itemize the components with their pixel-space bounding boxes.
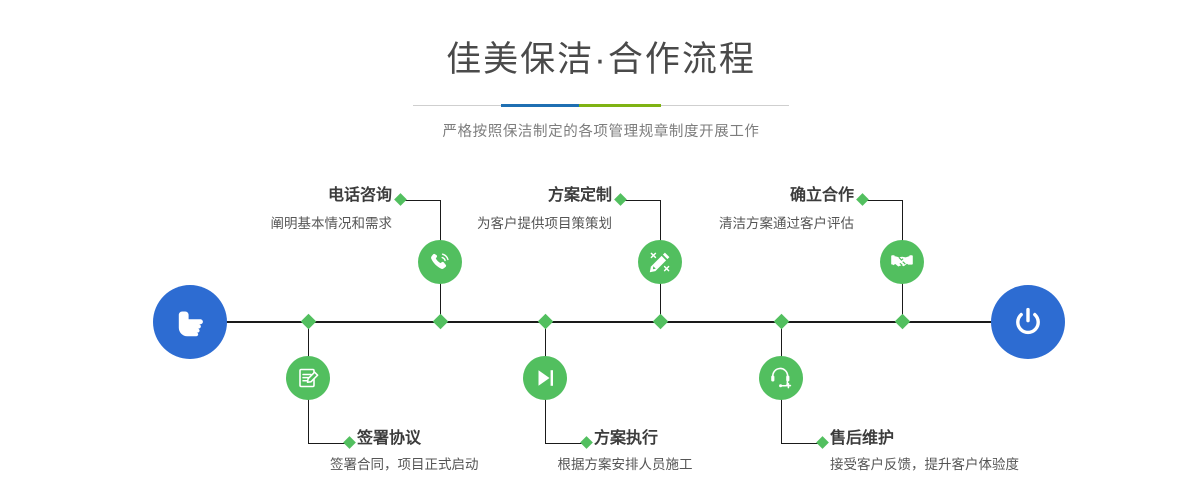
document-edit-icon [295, 365, 321, 391]
step-icon-circle-4[interactable] [523, 356, 567, 400]
step-icon-circle-6[interactable] [759, 356, 803, 400]
step-desc-1: 阐明基本情况和需求 [180, 217, 392, 231]
timeline-end-node[interactable] [991, 285, 1065, 359]
pencil-ruler-icon [647, 249, 673, 275]
flowchart-page: 佳美保洁·合作流程 严格按照保洁制定的各项管理规章制度开展工作 [0, 0, 1202, 502]
handshake-icon [889, 249, 915, 275]
play-execute-icon [532, 365, 558, 391]
step-title-5: 确立合作 [642, 188, 854, 204]
label-marker-6 [816, 436, 829, 449]
step-title-4: 方案执行 [594, 431, 658, 447]
step-desc-4: 根据方案安排人员施工 [558, 458, 693, 472]
step-icon-circle-2[interactable] [286, 356, 330, 400]
step-icon-circle-5[interactable] [880, 240, 924, 284]
step-title-6: 售后维护 [830, 431, 894, 447]
label-marker-3 [614, 193, 627, 206]
label-marker-4 [580, 436, 593, 449]
label-marker-5 [856, 193, 869, 206]
axis-marker-4 [538, 314, 554, 330]
phone-call-icon [427, 249, 453, 275]
power-icon [1008, 302, 1048, 342]
axis-marker-1 [433, 314, 449, 330]
process-timeline: 电话咨询 阐明基本情况和需求 签署协议 签署合同，项目正式启动 [0, 0, 1202, 502]
label-marker-2 [343, 436, 356, 449]
timeline-start-node[interactable] [153, 285, 227, 359]
step-desc-6: 接受客户反馈，提升客户体验度 [830, 458, 1019, 472]
step-desc-3: 为客户提供项目策策划 [400, 217, 612, 231]
pointing-hand-icon [170, 302, 210, 342]
axis-marker-6 [774, 314, 790, 330]
step-desc-2: 签署合同，项目正式启动 [330, 458, 479, 472]
axis-marker-5 [895, 314, 911, 330]
axis-marker-3 [653, 314, 669, 330]
step-desc-5: 清洁方案通过客户评估 [642, 217, 854, 231]
step-icon-circle-3[interactable] [638, 240, 682, 284]
step-title-2: 签署协议 [357, 431, 421, 447]
step-title-3: 方案定制 [400, 188, 612, 204]
customer-service-add-icon [768, 365, 794, 391]
step-icon-circle-1[interactable] [418, 240, 462, 284]
step-title-1: 电话咨询 [180, 188, 392, 204]
axis-marker-2 [301, 314, 317, 330]
